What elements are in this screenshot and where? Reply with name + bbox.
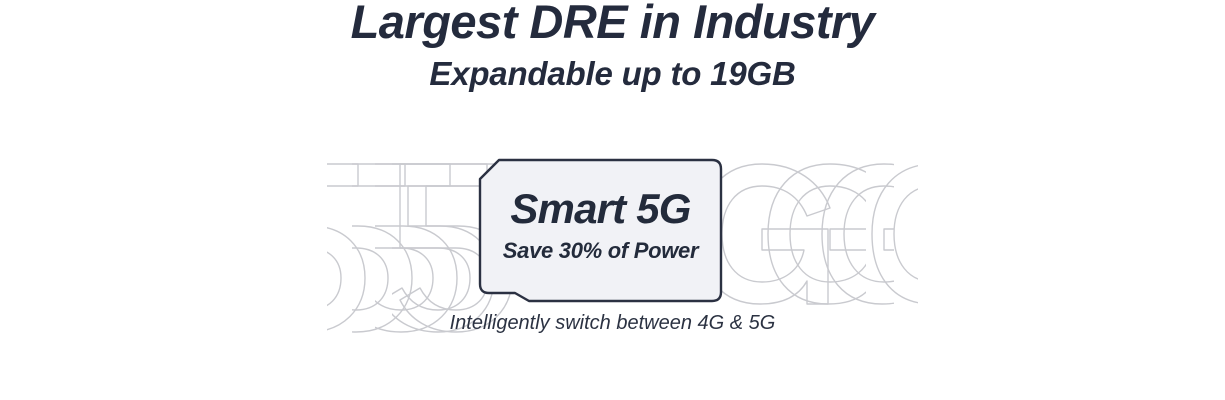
- smart-5g-card: Smart 5G Save 30% of Power: [479, 159, 722, 303]
- page-title: Largest DRE in Industry: [0, 0, 1225, 50]
- echo-g-3: [872, 164, 1002, 304]
- promo-banner: Largest DRE in Industry Expandable up to…: [0, 0, 1225, 400]
- caption-text: Intelligently switch between 4G & 5G: [0, 309, 1225, 337]
- echo-5-3: [300, 164, 412, 332]
- echo-5-4: [253, 164, 365, 332]
- sim-card-subtitle: Save 30% of Power: [479, 236, 722, 266]
- echo-g-2: [822, 164, 952, 304]
- echo-5-1: [382, 164, 494, 332]
- echo-g-1: [768, 164, 898, 304]
- page-subtitle: Expandable up to 19GB: [0, 52, 1225, 96]
- echo-5-2: [345, 164, 457, 332]
- sim-card-title: Smart 5G: [479, 184, 722, 234]
